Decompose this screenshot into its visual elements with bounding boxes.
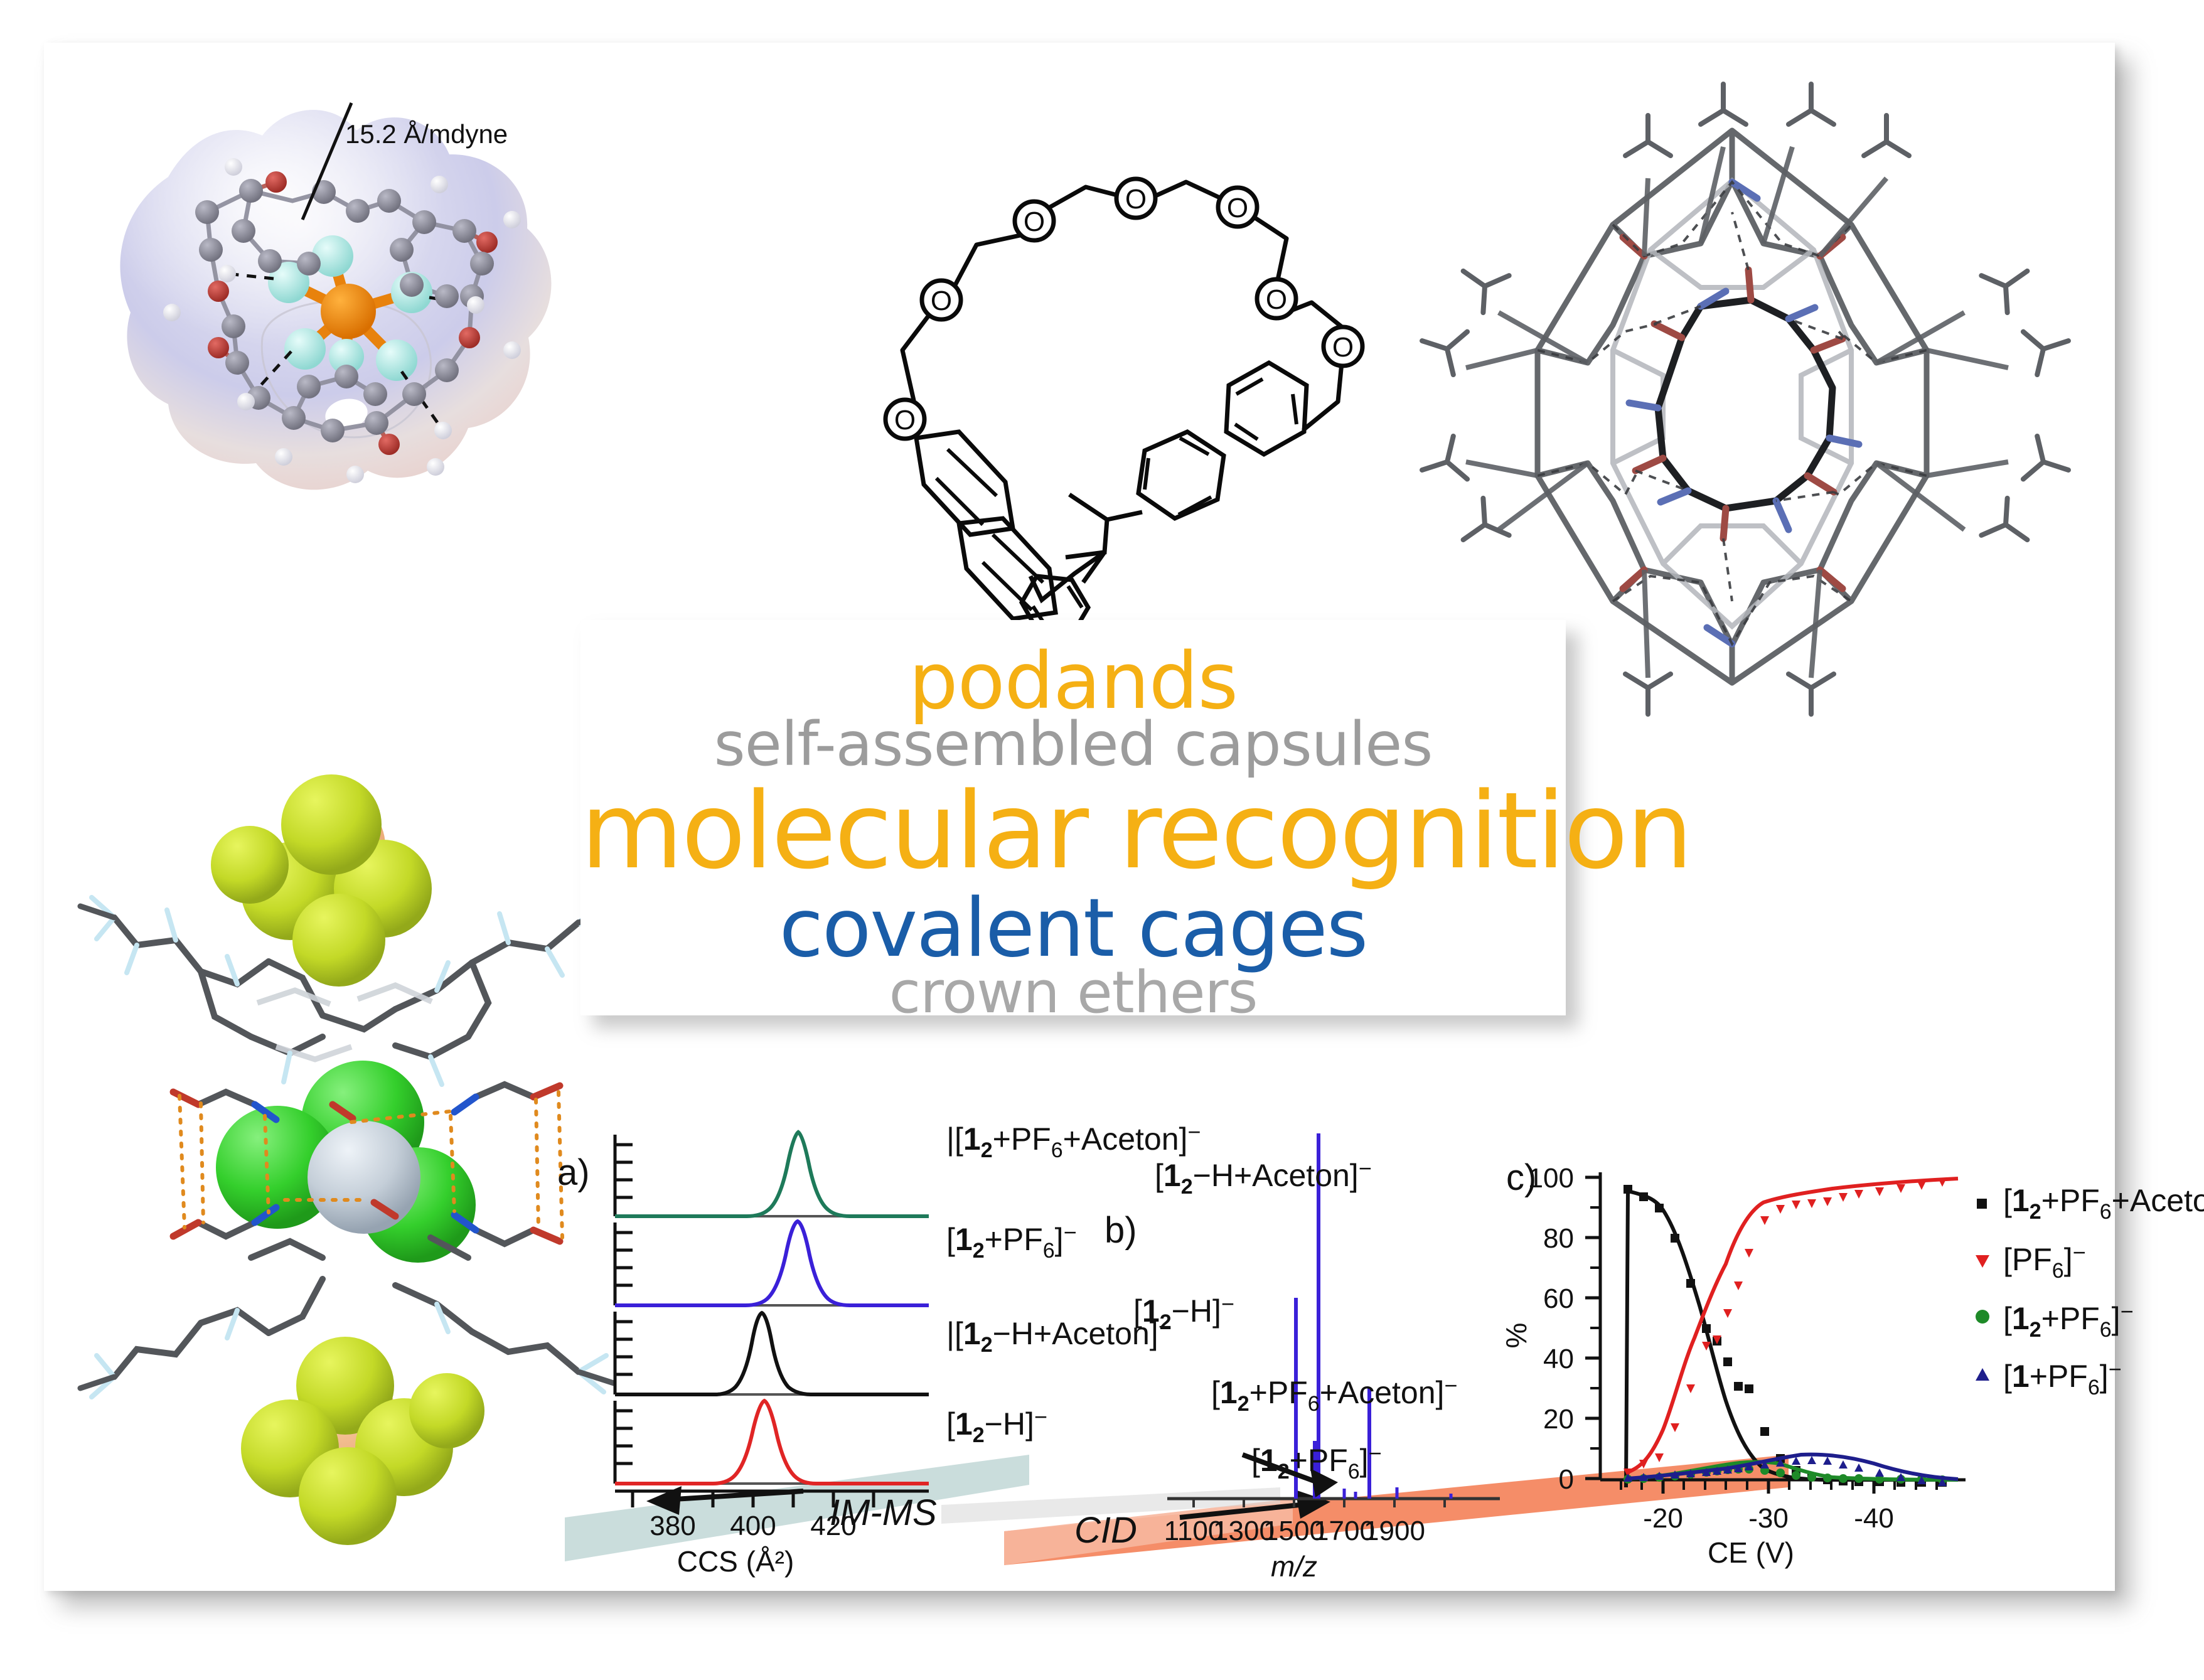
panel-b-xtick-1900: 1900 bbox=[1364, 1516, 1425, 1546]
triptycene-bridgehead bbox=[1022, 495, 1142, 635]
ccs-trace-2 bbox=[615, 1221, 929, 1305]
panel-a-xtick-420: 420 bbox=[810, 1511, 856, 1541]
wordcloud-box: podands self-assembled capsules molecula… bbox=[580, 620, 1566, 1015]
legend-marker-square bbox=[1977, 1199, 1987, 1209]
crown-ether-structure: O O O O O bbox=[853, 80, 1393, 607]
cid-banner-label: CID bbox=[1074, 1510, 1137, 1551]
svg-text:O: O bbox=[931, 286, 952, 316]
panel-b-peak-label-3: [12+PF6+Aceton]− bbox=[1211, 1372, 1457, 1416]
panel-a-xtick-400: 400 bbox=[730, 1511, 776, 1541]
legend-label-3: [12+PF6]− bbox=[2003, 1298, 2134, 1342]
panel-c-ytick-0: 0 bbox=[1559, 1464, 1574, 1495]
central-guest-spheres bbox=[216, 1061, 476, 1263]
panel-c-ytick-100: 100 bbox=[1528, 1163, 1574, 1194]
panel-c-legend: [12+PF6+Aceton]− [PF6]− [12+PF6]− [1+PF6… bbox=[1976, 1180, 2204, 1399]
svg-text:O: O bbox=[1024, 206, 1045, 237]
legend-marker-triangle-up bbox=[1976, 1368, 1989, 1381]
esp-surface-structure bbox=[63, 43, 590, 607]
panel-b-x-axis-title: m/z bbox=[1271, 1550, 1317, 1583]
analysis-charts-block: IM-MS CID a) bbox=[540, 1022, 2121, 1586]
panel-c-ytick-60: 60 bbox=[1543, 1283, 1574, 1314]
panel-c-series-black bbox=[1624, 1185, 1958, 1487]
legend-label-2: [PF6]− bbox=[2003, 1239, 2086, 1283]
wordcloud-term-self-assembled-capsules: self-assembled capsules bbox=[580, 714, 1566, 774]
bottom-pf6-guest bbox=[241, 1337, 484, 1545]
ccs-trace-1-label: |[12+PF6+Aceton]− bbox=[946, 1119, 1201, 1162]
ccs-trace-1 bbox=[615, 1132, 929, 1216]
panel-c-xtick--20: -20 bbox=[1643, 1503, 1683, 1534]
svg-text:O: O bbox=[1227, 193, 1248, 223]
legend-label-4: [1+PF6]− bbox=[2003, 1356, 2122, 1399]
svg-text:O: O bbox=[1266, 284, 1287, 315]
panel-c-ytick-40: 40 bbox=[1543, 1344, 1574, 1374]
wordcloud-term-covalent-cages: covalent cages bbox=[580, 889, 1566, 969]
panel-c-y-ticks bbox=[1585, 1177, 1600, 1479]
panel-b-peak-label-1: [12−H+Aceton]− bbox=[1155, 1155, 1372, 1199]
legend-label-1: [12+PF6+Aceton]− bbox=[2003, 1180, 2204, 1224]
panel-c-ytick-80: 80 bbox=[1543, 1223, 1574, 1254]
legend-marker-circle bbox=[1976, 1310, 1989, 1324]
panel-c-y-axis-title: % bbox=[1500, 1323, 1533, 1349]
svg-text:O: O bbox=[1125, 184, 1147, 215]
legend-marker-triangle-down bbox=[1976, 1255, 1989, 1268]
panel-b-peak-label-2: [12−H]− bbox=[1133, 1291, 1234, 1334]
oxygen-atoms: O O O O O bbox=[885, 179, 1362, 439]
panel-c-ytick-20: 20 bbox=[1543, 1404, 1574, 1435]
wordcloud-term-molecular-recognition: molecular recognition bbox=[580, 778, 1566, 884]
panel-c-xtick--30: -30 bbox=[1748, 1503, 1789, 1534]
panel-a-xtick-380: 380 bbox=[650, 1511, 695, 1541]
wordcloud-term-crown-ethers: crown ethers bbox=[580, 964, 1566, 1022]
panel-c-x-axis-title: CE (V) bbox=[1708, 1536, 1794, 1569]
ccs-trace-2-label: [12+PF6]− bbox=[946, 1219, 1077, 1263]
panel-c: c) bbox=[1500, 1157, 2204, 1569]
panel-c-series-red bbox=[1624, 1178, 1958, 1477]
ccs-trace-4-label: [12−H]− bbox=[946, 1404, 1047, 1447]
mid-aryl-ring bbox=[1138, 432, 1224, 518]
panel-b-label: b) bbox=[1105, 1210, 1137, 1251]
svg-text:O: O bbox=[894, 405, 916, 436]
panel-a-x-axis-title: CCS (Å²) bbox=[677, 1545, 794, 1578]
right-aryl-ring bbox=[1226, 363, 1307, 454]
ccs-trace-4 bbox=[615, 1401, 929, 1484]
panel-c-xtick--40: -40 bbox=[1854, 1503, 1894, 1534]
esp-annotation-label: 15.2 Å/mdyne bbox=[345, 119, 508, 149]
top-pf6-guest bbox=[211, 774, 432, 987]
panel-a-label: a) bbox=[557, 1152, 590, 1193]
poster-card: 15.2 Å/mdyne O bbox=[44, 43, 2115, 1591]
ccs-trace-3 bbox=[615, 1312, 929, 1394]
